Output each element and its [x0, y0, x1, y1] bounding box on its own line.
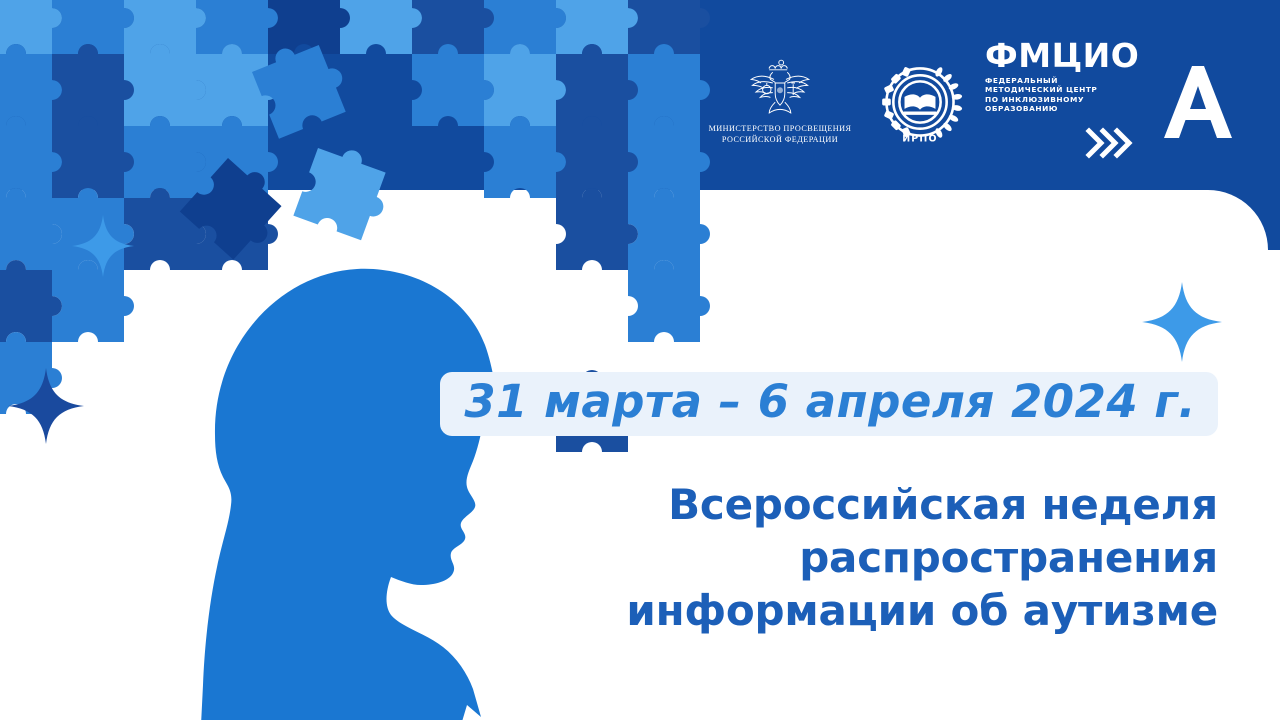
logo-ministry-caption: МИНИСТЕРСТВО ПРОСВЕЩЕНИЯ РОССИЙСКОЙ ФЕДЕ…: [709, 123, 852, 145]
sparkle-right-icon: [1142, 282, 1222, 362]
letter-a-icon: [1161, 62, 1235, 142]
logo-ministry-of-education: МИНИСТЕРСТВО ПРОСВЕЩЕНИЯ РОССИЙСКОЙ ФЕДЕ…: [705, 59, 855, 145]
svg-text:ИРПО: ИРПО: [902, 134, 938, 145]
autism-awareness-week-banner: МИНИСТЕРСТВО ПРОСВЕЩЕНИЯ РОССИЙСКОЙ ФЕДЕ…: [0, 0, 1280, 720]
logo-fmcio-title: ФМЦИО: [985, 39, 1139, 72]
headline-line-2: распространения: [558, 531, 1218, 584]
headline-line-3: информации об аутизме: [558, 584, 1218, 637]
headline-line-1: Всероссийская неделя: [558, 478, 1218, 531]
logo-autism-letter-a: [1161, 62, 1235, 142]
irpo-emblem-icon: ИРПО: [877, 59, 963, 145]
logo-irpo: ИРПО: [877, 59, 963, 145]
double-headed-eagle-crest-icon: [732, 59, 828, 119]
event-date-pill: 31 марта – 6 апреля 2024 г.: [440, 372, 1218, 436]
page-title: Всероссийская неделя распространения инф…: [558, 478, 1218, 637]
chevrons-icon: [1083, 123, 1139, 163]
logo-fmcio: ФМЦИО ФЕДЕРАЛЬНЫЙ МЕТОДИЧЕСКИЙ ЦЕНТР ПО …: [985, 39, 1139, 166]
logo-fmcio-subtitle: ФЕДЕРАЛЬНЫЙ МЕТОДИЧЕСКИЙ ЦЕНТР ПО ИНКЛЮЗ…: [985, 76, 1139, 114]
logo-row: МИНИСТЕРСТВО ПРОСВЕЩЕНИЯ РОССИЙСКОЙ ФЕДЕ…: [705, 52, 1235, 152]
event-date-text: 31 марта – 6 апреля 2024 г.: [464, 378, 1196, 426]
